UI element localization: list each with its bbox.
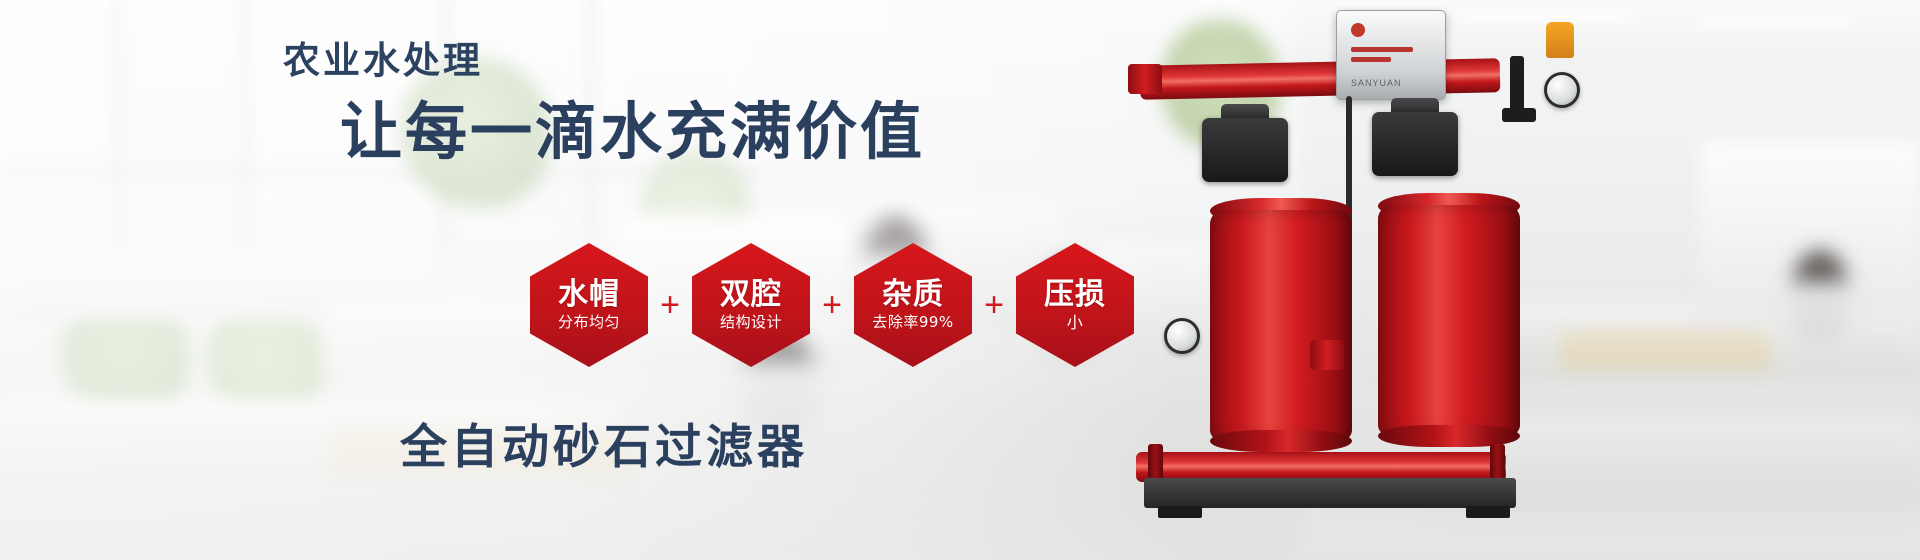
product-title: 全自动砂石过滤器	[400, 424, 808, 471]
control-valve	[1202, 118, 1288, 182]
side-nozzle	[1310, 340, 1344, 370]
banner-tagline: 让每一滴水充满价值	[340, 101, 925, 163]
plus-separator-3: +	[972, 288, 1016, 322]
banner-copy: 农业水处理 让每一滴水充满价值 水帽 分布均匀 + 双腔 结构设计 + 杂质 去…	[0, 0, 1180, 560]
base-foot	[1466, 506, 1510, 518]
feature-badge-subtitle: 小	[1067, 314, 1084, 332]
tank-bottom	[1210, 430, 1352, 452]
sand-filter-product-image: SANYUAN	[1150, 0, 1710, 540]
feature-badge-1[interactable]: 水帽 分布均匀	[530, 243, 648, 367]
pressure-relief-valve	[1546, 22, 1574, 58]
controller-stripe	[1351, 57, 1391, 62]
feature-badge-2[interactable]: 双腔 结构设计	[692, 243, 810, 367]
feature-badge-title: 压损	[1044, 279, 1106, 310]
controller-box: SANYUAN	[1336, 10, 1446, 100]
feature-badge-3[interactable]: 杂质 去除率99%	[854, 243, 972, 367]
control-valve	[1372, 112, 1458, 176]
feature-badge-subtitle: 结构设计	[720, 314, 782, 331]
ceiling-light	[1700, 20, 1850, 27]
controller-brand-label: SANYUAN	[1351, 78, 1402, 88]
feature-badge-title: 水帽	[558, 279, 620, 310]
hero-banner: SANYUAN 农业水处理 让每一滴水充满价值 水帽 分布均匀 +	[0, 0, 1920, 560]
plus-separator-1: +	[648, 288, 692, 322]
feature-badge-title: 双腔	[720, 279, 782, 310]
feature-badge-row: 水帽 分布均匀 + 双腔 结构设计 + 杂质 去除率99% + 压损 小	[530, 243, 1134, 367]
black-pipe	[1502, 108, 1536, 122]
feature-badge-title: 杂质	[882, 279, 944, 310]
feature-badge-subtitle: 去除率99%	[872, 314, 953, 331]
feature-badge-4[interactable]: 压损 小	[1016, 243, 1134, 367]
person	[1790, 250, 1850, 345]
indicator-light	[1351, 23, 1365, 37]
pressure-gauge	[1544, 72, 1580, 108]
filter-tank	[1210, 210, 1352, 440]
top-manifold-pipe	[1140, 58, 1501, 100]
black-pipe	[1510, 56, 1524, 116]
feature-badge-subtitle: 分布均匀	[558, 314, 620, 331]
controller-stripe	[1351, 47, 1413, 52]
banner-kicker: 农业水处理	[283, 42, 483, 79]
filter-tank	[1378, 205, 1520, 435]
plus-separator-2: +	[810, 288, 854, 322]
frame-base	[1144, 478, 1516, 508]
